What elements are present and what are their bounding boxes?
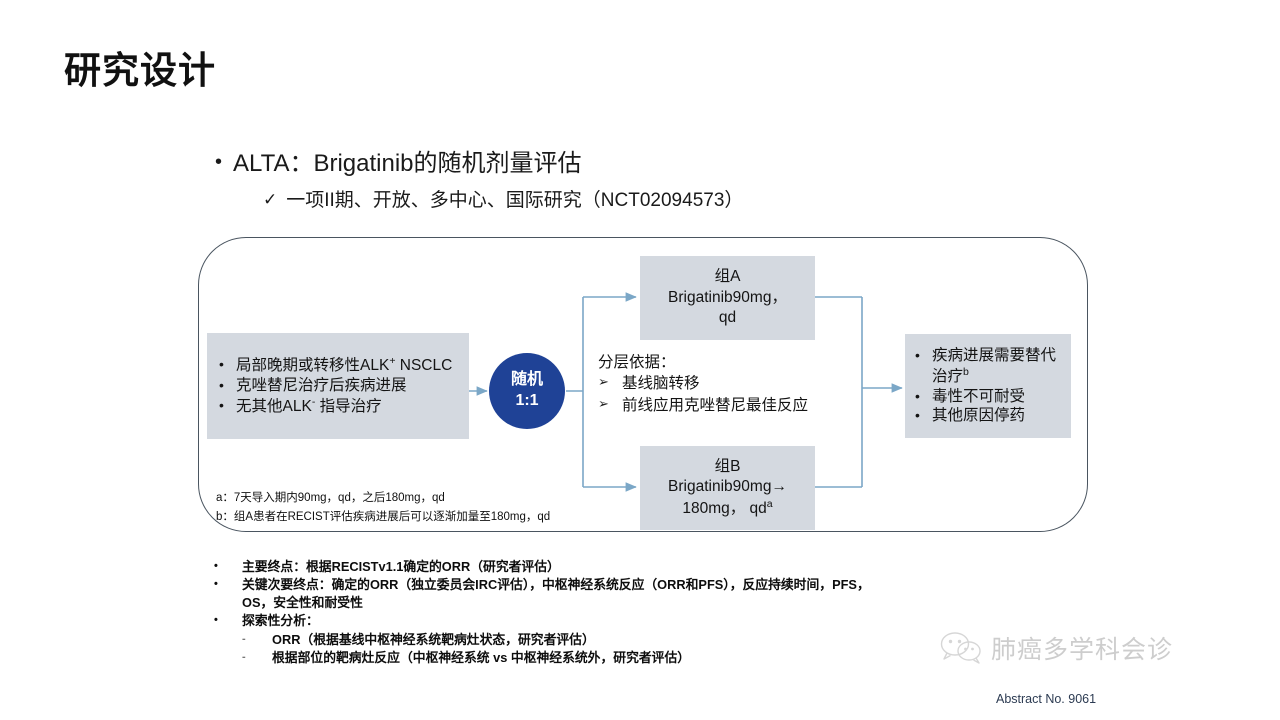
discontinuation-item-text: 毒性不可耐受 (932, 387, 1025, 407)
discontinuation-criteria-box: • 疾病进展需要替代治疗b • 毒性不可耐受 • 其他原因停药 (905, 334, 1071, 438)
eligibility-criteria-box: • 局部晚期或转移性ALK+ NSCLC • 克唑替尼治疗后疾病进展 • 无其他… (207, 333, 469, 439)
arm-b-dose-line1: Brigatinib90mg→ (668, 477, 787, 497)
stratification-heading: 分层依据： (598, 352, 878, 373)
wechat-icon (940, 631, 982, 665)
randomization-ratio: 1:1 (515, 391, 538, 412)
footnote-marker-b: b (963, 366, 969, 378)
secondary-endpoint-row: • 关键次要终点：确定的ORR（独立委员会IRC评估），中枢神经系统反应（ORR… (214, 576, 914, 612)
page-title: 研究设计 (64, 40, 216, 94)
arm-a-dose-line2: qd (719, 308, 736, 328)
arm-a-name: 组A (715, 267, 741, 287)
randomization-label: 随机 (511, 370, 543, 391)
arm-a-dose-line1: Brigatinib90mg， (668, 288, 787, 308)
watermark-text: 肺癌多学科会诊 (991, 630, 1173, 666)
bullet-icon: • (915, 406, 932, 425)
bullet-icon: • (214, 558, 242, 575)
footnote-a: a：7天导入期内90mg，qd，之后180mg，qd (216, 489, 550, 508)
arm-b-dose-line2: 180mg， qda (682, 498, 772, 520)
intro-sub-text: 一项II期、开放、多中心、国际研究（NCT02094573） (286, 190, 743, 213)
bullet-icon: • (219, 376, 236, 395)
stratification-item-text: 前线应用克唑替尼最佳反应 (622, 395, 808, 416)
exploratory-item: - ORR（根据基线中枢神经系统靶病灶状态，研究者评估） (242, 631, 914, 649)
eligibility-item-text: 无其他ALK- 指导治疗 (236, 396, 459, 417)
arrow-bullet-icon: ➢ (598, 373, 622, 391)
intro-bullets: • ALTA：Brigatinib的随机剂量评估 ✓ 一项II期、开放、多中心、… (215, 150, 1015, 213)
bullet-icon: • (915, 387, 932, 406)
stratification-item: ➢ 基线脑转移 (598, 373, 878, 394)
eligibility-item: • 无其他ALK- 指导治疗 (219, 396, 459, 417)
eligibility-item: • 局部晚期或转移性ALK+ NSCLC (219, 355, 459, 376)
watermark: 肺癌多学科会诊 (940, 630, 1173, 666)
diagram-footnotes: a：7天导入期内90mg，qd，之后180mg，qd b：组A患者在RECIST… (216, 489, 550, 526)
stratification-item-text: 基线脑转移 (622, 373, 700, 394)
abstract-number: Abstract No. 9061 (996, 692, 1096, 706)
treatment-arm-b-box: 组B Brigatinib90mg→ 180mg， qda (640, 446, 815, 530)
bullet-icon: • (214, 576, 242, 593)
eligibility-item-text: 局部晚期或转移性ALK+ NSCLC (236, 355, 459, 376)
dash-bullet-icon: - (242, 631, 272, 648)
secondary-endpoint-text: 关键次要终点：确定的ORR（独立委员会IRC评估），中枢神经系统反应（ORR和P… (242, 576, 870, 612)
discontinuation-item: • 疾病进展需要替代治疗b (915, 346, 1063, 387)
discontinuation-item: • 毒性不可耐受 (915, 387, 1063, 407)
discontinuation-item: • 其他原因停药 (915, 406, 1063, 426)
bullet-icon: • (215, 150, 222, 175)
eligibility-item: • 克唑替尼治疗后疾病进展 (219, 376, 459, 396)
intro-bullet-primary: • ALTA：Brigatinib的随机剂量评估 (215, 150, 1015, 179)
exploratory-heading-text: 探索性分析： (242, 612, 319, 630)
check-icon: ✓ (263, 190, 277, 210)
exploratory-heading-row: • 探索性分析： (214, 612, 914, 630)
arm-b-name: 组B (715, 457, 741, 477)
treatment-arm-a-box: 组A Brigatinib90mg， qd (640, 256, 815, 340)
arrow-bullet-icon: ➢ (598, 395, 622, 413)
bullet-icon: • (915, 346, 932, 365)
discontinuation-item-text: 疾病进展需要替代治疗b (932, 346, 1063, 387)
footnote-b: b：组A患者在RECIST评估疾病进展后可以逐渐加量至180mg，qd (216, 508, 550, 527)
footnote-marker-a: a (767, 498, 773, 510)
randomization-node: 随机 1:1 (489, 353, 565, 429)
bullet-icon: • (219, 396, 236, 415)
endpoints-block: • 主要终点：根据RECISTv1.1确定的ORR（研究者评估） • 关键次要终… (214, 558, 914, 667)
primary-endpoint-text: 主要终点：根据RECISTv1.1确定的ORR（研究者评估） (242, 558, 560, 576)
exploratory-item-text: 根据部位的靶病灶反应（中枢神经系统 vs 中枢神经系统外，研究者评估） (272, 649, 690, 667)
primary-endpoint-row: • 主要终点：根据RECISTv1.1确定的ORR（研究者评估） (214, 558, 914, 576)
dash-bullet-icon: - (242, 649, 272, 666)
exploratory-item: - 根据部位的靶病灶反应（中枢神经系统 vs 中枢神经系统外，研究者评估） (242, 649, 914, 667)
exploratory-item-text: ORR（根据基线中枢神经系统靶病灶状态，研究者评估） (272, 631, 595, 649)
bullet-icon: • (214, 612, 242, 629)
bullet-icon: • (219, 355, 236, 374)
intro-primary-text: ALTA：Brigatinib的随机剂量评估 (233, 150, 582, 179)
stratification-block: 分层依据： ➢ 基线脑转移 ➢ 前线应用克唑替尼最佳反应 (598, 352, 878, 416)
eligibility-item-text: 克唑替尼治疗后疾病进展 (236, 376, 459, 396)
stratification-item: ➢ 前线应用克唑替尼最佳反应 (598, 395, 878, 416)
intro-bullet-sub: ✓ 一项II期、开放、多中心、国际研究（NCT02094573） (263, 190, 1015, 213)
discontinuation-item-text: 其他原因停药 (932, 406, 1025, 426)
